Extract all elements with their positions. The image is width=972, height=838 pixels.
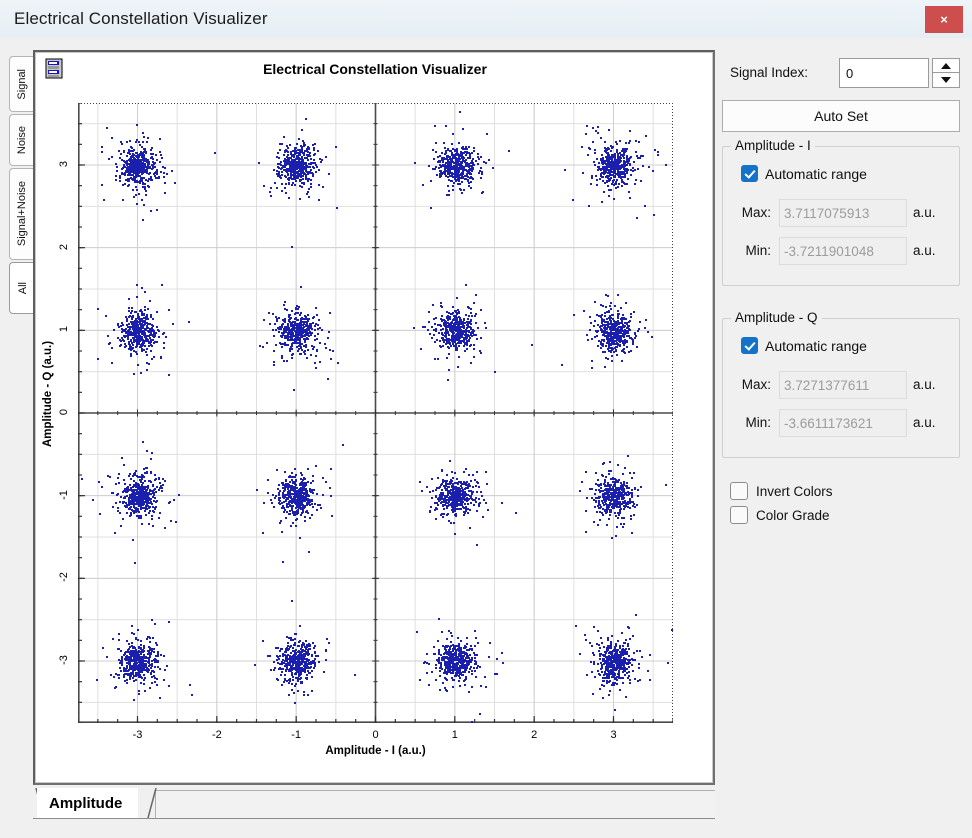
y-tick-label: 3 bbox=[58, 156, 70, 172]
signal-index-label: Signal Index: bbox=[730, 65, 808, 80]
amplitude-i-max-unit: a.u. bbox=[913, 205, 936, 220]
close-button[interactable]: × bbox=[925, 6, 963, 33]
amplitude-i-max-input[interactable]: 3.7117075913 bbox=[779, 199, 907, 227]
tab-all-label: All bbox=[17, 282, 29, 294]
checkbox-checked-icon bbox=[741, 165, 758, 182]
x-tick-label: 0 bbox=[366, 729, 386, 741]
plot-inner: Electrical Constellation Visualizer -3-2… bbox=[35, 52, 713, 783]
chevron-up-icon bbox=[941, 63, 951, 69]
amplitude-i-automatic-range-label: Automatic range bbox=[765, 166, 867, 182]
stepper-up-button[interactable] bbox=[932, 58, 960, 73]
chevron-down-icon bbox=[941, 77, 951, 83]
tab-baseline bbox=[33, 818, 715, 819]
stepper-down-button[interactable] bbox=[932, 73, 960, 88]
amplitude-i-min-unit: a.u. bbox=[913, 243, 936, 258]
amplitude-i-min-input[interactable]: -3.7211901048 bbox=[779, 237, 907, 265]
amplitude-i-max-label: Max: bbox=[723, 205, 771, 220]
tab-right-slash-icon bbox=[146, 788, 158, 818]
x-tick-label: -1 bbox=[286, 729, 306, 741]
amplitude-q-max-input[interactable]: 3.7271377611 bbox=[779, 371, 907, 399]
invert-colors-label: Invert Colors bbox=[756, 484, 833, 499]
y-axis-title: Amplitude - Q (a.u.) bbox=[42, 214, 54, 574]
vertical-tab-strip: Signal Noise Signal+Noise All bbox=[9, 56, 35, 316]
plot-title: Electrical Constellation Visualizer bbox=[36, 61, 714, 77]
plot-panel: Electrical Constellation Visualizer -3-2… bbox=[33, 50, 715, 785]
invert-colors-checkbox[interactable]: Invert Colors bbox=[730, 482, 833, 500]
window-title: Electrical Constellation Visualizer bbox=[14, 9, 268, 29]
amplitude-q-max-row: Max: 3.7271377611 a.u. bbox=[723, 371, 961, 401]
y-tick-label: 1 bbox=[58, 321, 70, 337]
bottom-tab-empty-area bbox=[155, 790, 715, 819]
y-tick-label: -1 bbox=[58, 487, 70, 503]
amplitude-q-automatic-range-checkbox[interactable]: Automatic range bbox=[741, 337, 867, 354]
tab-signal[interactable]: Signal bbox=[9, 56, 33, 112]
window-body: Signal Noise Signal+Noise All bbox=[0, 38, 972, 838]
tab-amplitude-label: Amplitude bbox=[49, 795, 122, 812]
checkbox-unchecked-icon bbox=[730, 506, 748, 524]
signal-index-row: Signal Index: bbox=[722, 58, 962, 90]
x-tick-label: -3 bbox=[128, 729, 148, 741]
control-panel: Signal Index: Auto Set Amplitude - I bbox=[722, 50, 962, 830]
tab-noise-label: Noise bbox=[16, 126, 28, 154]
y-tick-label: 2 bbox=[58, 239, 70, 255]
tab-noise[interactable]: Noise bbox=[9, 114, 33, 166]
signal-index-stepper bbox=[932, 58, 960, 88]
amplitude-q-max-label: Max: bbox=[723, 377, 771, 392]
tab-amplitude[interactable]: Amplitude bbox=[37, 788, 138, 818]
constellation-plot: -3-2-10123-3-2-10123 bbox=[78, 103, 673, 723]
y-tick-label: 0 bbox=[58, 404, 70, 420]
x-tick-label: 3 bbox=[604, 729, 624, 741]
x-tick-label: 1 bbox=[445, 729, 465, 741]
x-tick-label: 2 bbox=[524, 729, 544, 741]
auto-set-button[interactable]: Auto Set bbox=[722, 100, 960, 132]
color-grade-label: Color Grade bbox=[756, 508, 830, 523]
amplitude-i-automatic-range-checkbox[interactable]: Automatic range bbox=[741, 165, 867, 182]
tab-all[interactable]: All bbox=[9, 262, 35, 314]
amplitude-i-max-row: Max: 3.7117075913 a.u. bbox=[723, 199, 961, 229]
amplitude-q-max-unit: a.u. bbox=[913, 377, 936, 392]
amplitude-q-group-title: Amplitude - Q bbox=[731, 310, 822, 325]
amplitude-q-automatic-range-label: Automatic range bbox=[765, 338, 867, 354]
color-grade-checkbox[interactable]: Color Grade bbox=[730, 506, 830, 524]
amplitude-i-group-title: Amplitude - I bbox=[731, 138, 815, 153]
amplitude-i-min-row: Min: -3.7211901048 a.u. bbox=[723, 237, 961, 267]
amplitude-q-min-label: Min: bbox=[723, 415, 771, 430]
amplitude-q-min-row: Min: -3.6611173621 a.u. bbox=[723, 409, 961, 439]
checkbox-checked-icon bbox=[741, 337, 758, 354]
checkbox-unchecked-icon bbox=[730, 482, 748, 500]
amplitude-i-min-label: Min: bbox=[723, 243, 771, 258]
bottom-tab-bar: Amplitude bbox=[33, 786, 715, 822]
amplitude-i-group: Amplitude - I Automatic range Max: 3.711… bbox=[722, 146, 960, 286]
application-window: Electrical Constellation Visualizer × Si… bbox=[0, 0, 972, 838]
tab-signal-label: Signal bbox=[16, 69, 28, 100]
y-tick-label: -2 bbox=[58, 569, 70, 585]
scatter-layer bbox=[78, 103, 673, 723]
amplitude-q-group: Amplitude - Q Automatic range Max: 3.727… bbox=[722, 318, 960, 458]
close-icon: × bbox=[940, 13, 948, 26]
x-tick-label: -2 bbox=[207, 729, 227, 741]
y-tick-label: -3 bbox=[58, 652, 70, 668]
tab-signal-plus-noise-label: Signal+Noise bbox=[16, 181, 28, 246]
title-bar: Electrical Constellation Visualizer × bbox=[0, 0, 972, 39]
x-axis-title: Amplitude - I (a.u.) bbox=[78, 745, 673, 757]
signal-index-input[interactable] bbox=[839, 58, 929, 88]
tab-signal-plus-noise[interactable]: Signal+Noise bbox=[9, 168, 33, 260]
amplitude-q-min-input[interactable]: -3.6611173621 bbox=[779, 409, 907, 437]
amplitude-q-min-unit: a.u. bbox=[913, 415, 936, 430]
